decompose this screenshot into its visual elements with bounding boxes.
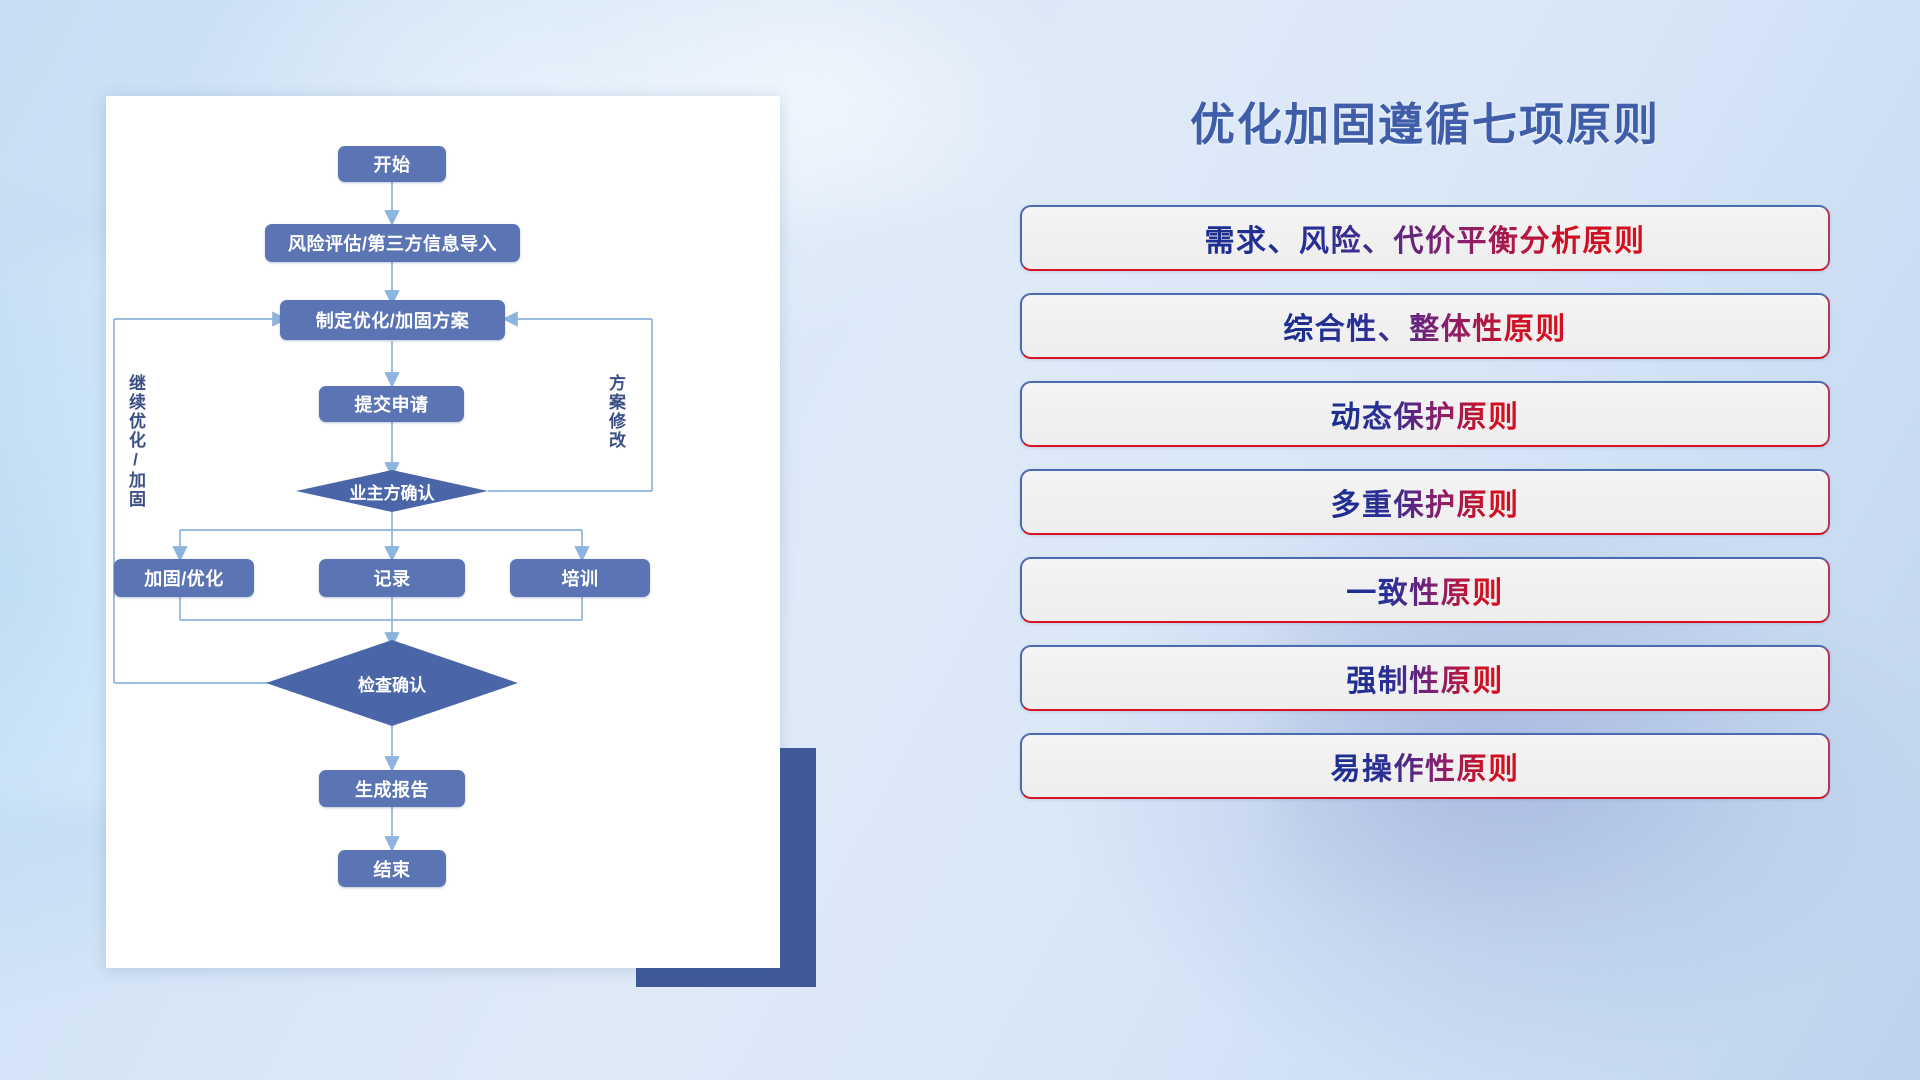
flow-node-generate-report[interactable]: 生成报告 <box>319 770 465 807</box>
flow-node-label: 结束 <box>374 856 411 882</box>
flow-node-risk-assessment[interactable]: 风险评估/第三方信息导入 <box>265 224 520 262</box>
principle-label: 动态保护原则 <box>1331 392 1520 436</box>
flow-node-start[interactable]: 开始 <box>338 146 446 182</box>
flowchart-card: 开始 风险评估/第三方信息导入 制定优化/加固方案 提交申请 业主方确认 加固/… <box>106 96 780 968</box>
flow-node-inspection-confirm-label: 检查确认 <box>312 671 472 695</box>
principle-label: 易操作性原则 <box>1331 744 1520 788</box>
flow-node-label: 检查确认 <box>358 671 426 696</box>
flow-node-reinforce-optimize[interactable]: 加固/优化 <box>114 559 254 597</box>
edge-label-text: 方案修改 <box>606 374 625 450</box>
slide-canvas: 开始 风险评估/第三方信息导入 制定优化/加固方案 提交申请 业主方确认 加固/… <box>0 0 1920 1080</box>
flow-node-label: 业主方确认 <box>350 479 435 504</box>
flow-node-submit-application[interactable]: 提交申请 <box>319 386 464 422</box>
edge-label-continue-optimize: 继续优化/加固 <box>126 374 145 509</box>
flow-node-label: 生成报告 <box>355 776 429 802</box>
page-title: 优化加固遵循七项原则 <box>1020 88 1830 153</box>
principle-label: 强制性原则 <box>1346 656 1504 700</box>
principles-panel: 优化加固遵循七项原则 需求、风险、代价平衡分析原则 综合性、整体性原则 动态保护… <box>1020 88 1830 821</box>
principle-card-4[interactable]: 多重保护原则 <box>1020 469 1830 535</box>
principle-card-2[interactable]: 综合性、整体性原则 <box>1020 293 1830 359</box>
flow-node-label: 风险评估/第三方信息导入 <box>288 230 497 256</box>
flow-node-label: 开始 <box>374 151 411 177</box>
principle-card-1[interactable]: 需求、风险、代价平衡分析原则 <box>1020 205 1830 271</box>
principle-card-5[interactable]: 一致性原则 <box>1020 557 1830 623</box>
flow-node-record[interactable]: 记录 <box>319 559 465 597</box>
principle-label: 需求、风险、代价平衡分析原则 <box>1205 216 1646 260</box>
flow-node-label: 提交申请 <box>355 391 429 417</box>
principle-card-6[interactable]: 强制性原则 <box>1020 645 1830 711</box>
principle-card-3[interactable]: 动态保护原则 <box>1020 381 1830 447</box>
flow-node-plan[interactable]: 制定优化/加固方案 <box>280 300 505 340</box>
flow-node-label: 制定优化/加固方案 <box>316 307 470 333</box>
edge-label-plan-revision: 方案修改 <box>606 374 625 450</box>
principle-label: 综合性、整体性原则 <box>1283 304 1567 348</box>
flow-node-end[interactable]: 结束 <box>338 850 446 887</box>
flow-node-label: 记录 <box>374 565 411 591</box>
flow-node-owner-confirm-label: 业主方确认 <box>312 479 472 503</box>
flow-node-label: 培训 <box>562 565 599 591</box>
principle-card-7[interactable]: 易操作性原则 <box>1020 733 1830 799</box>
edge-label-text: 继续优化/加固 <box>126 374 145 509</box>
flow-node-label: 加固/优化 <box>144 565 224 591</box>
flow-node-training[interactable]: 培训 <box>510 559 650 597</box>
principle-label: 多重保护原则 <box>1331 480 1520 524</box>
principle-label: 一致性原则 <box>1346 568 1504 612</box>
